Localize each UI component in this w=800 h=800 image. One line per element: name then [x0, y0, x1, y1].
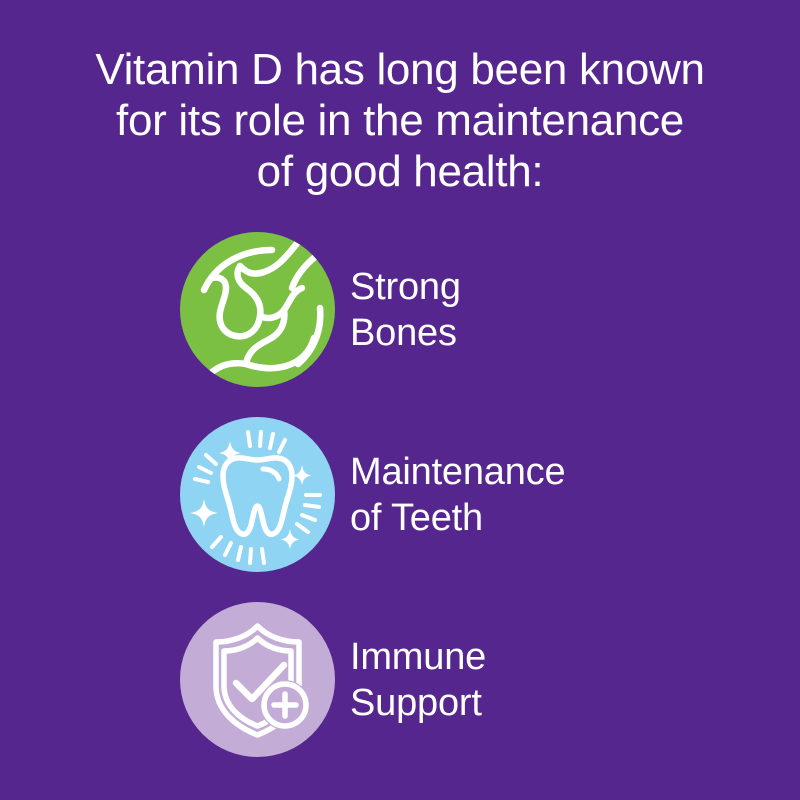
benefit-label-immune-support: Immune Support: [350, 634, 486, 726]
bone-joint-icon: [180, 232, 335, 387]
vitamin-d-benefits-infographic: Vitamin D has long been known for its ro…: [0, 0, 800, 800]
benefit-item-immune-support: Immune Support: [0, 602, 800, 757]
benefit-label-strong-bones: Strong Bones: [350, 264, 461, 356]
benefit-list: Strong Bones: [0, 232, 800, 787]
benefit-item-strong-bones: Strong Bones: [0, 232, 800, 387]
benefit-item-maintenance-of-teeth: Maintenance of Teeth: [0, 417, 800, 572]
sparkling-tooth-icon: [180, 417, 335, 572]
shield-check-plus-icon: [180, 602, 335, 757]
benefit-label-maintenance-of-teeth: Maintenance of Teeth: [350, 449, 565, 541]
page-title: Vitamin D has long been known for its ro…: [40, 44, 760, 197]
